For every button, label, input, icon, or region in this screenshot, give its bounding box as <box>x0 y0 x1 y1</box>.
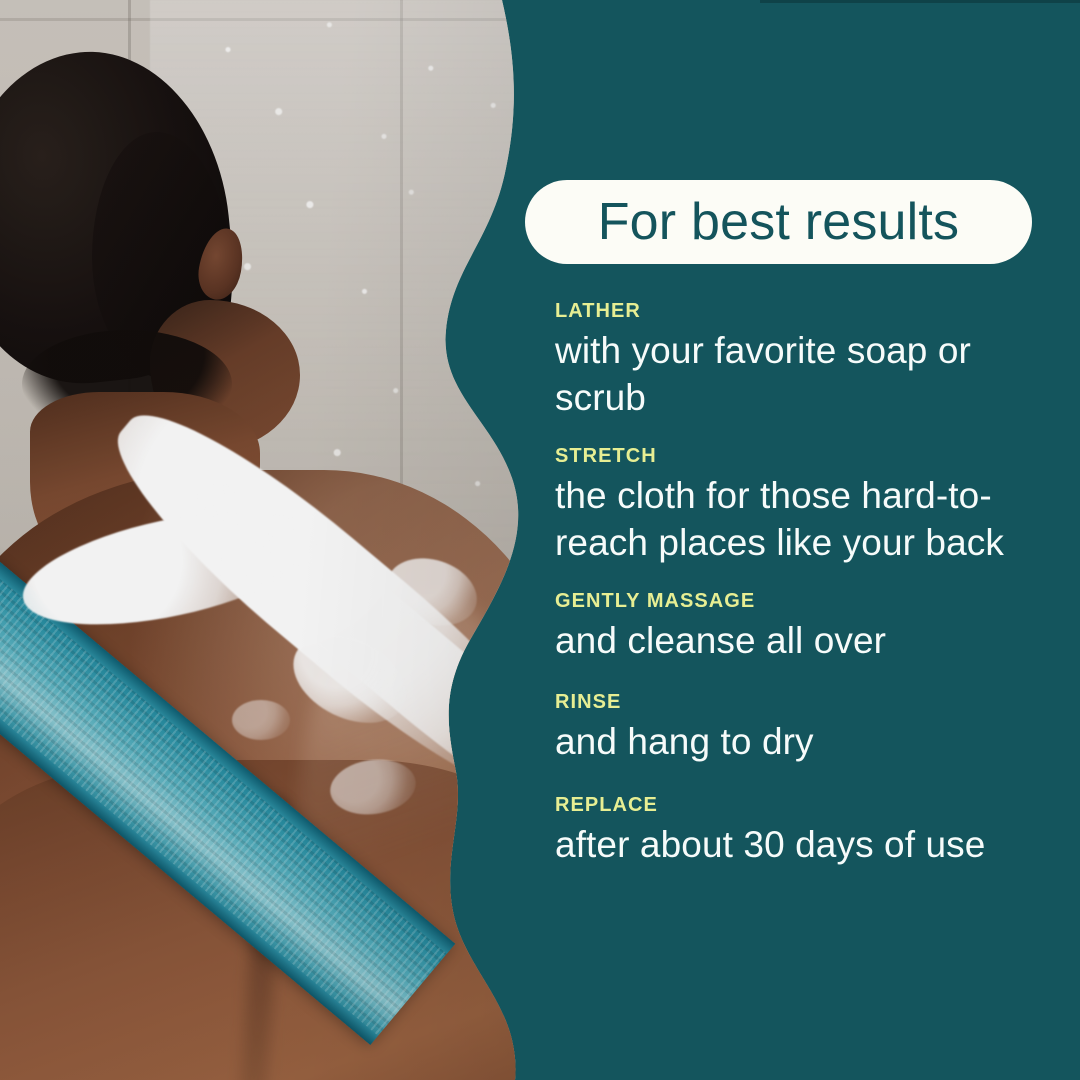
lather-foam <box>232 700 290 740</box>
step-gently-massage: GENTLY MASSAGE and cleanse all over <box>555 590 1055 665</box>
step-text: and hang to dry <box>555 719 1035 766</box>
step-stretch: STRETCH the cloth for those hard-to-reac… <box>555 445 1055 566</box>
title-pill: For best results <box>525 180 1032 264</box>
step-text: with your favorite soap or scrub <box>555 328 1035 421</box>
step-label: LATHER <box>555 300 1055 322</box>
step-label: RINSE <box>555 691 1055 713</box>
panel-content: For best results LATHER with your favori… <box>525 0 1080 1080</box>
step-replace: REPLACE after about 30 days of use <box>555 794 1055 869</box>
step-rinse: RINSE and hang to dry <box>555 691 1055 766</box>
step-label: REPLACE <box>555 794 1055 816</box>
step-label: STRETCH <box>555 445 1055 467</box>
step-text: after about 30 days of use <box>555 822 1035 869</box>
step-label: GENTLY MASSAGE <box>555 590 1055 612</box>
step-text: the cloth for those hard-to-reach places… <box>555 473 1035 566</box>
product-instructions-graphic: For best results LATHER with your favori… <box>0 0 1080 1080</box>
hero-photo <box>0 0 540 1080</box>
step-lather: LATHER with your favorite soap or scrub <box>555 300 1055 421</box>
page-title: For best results <box>598 196 960 248</box>
step-text: and cleanse all over <box>555 618 1035 665</box>
steps-list: LATHER with your favorite soap or scrub … <box>555 300 1055 868</box>
